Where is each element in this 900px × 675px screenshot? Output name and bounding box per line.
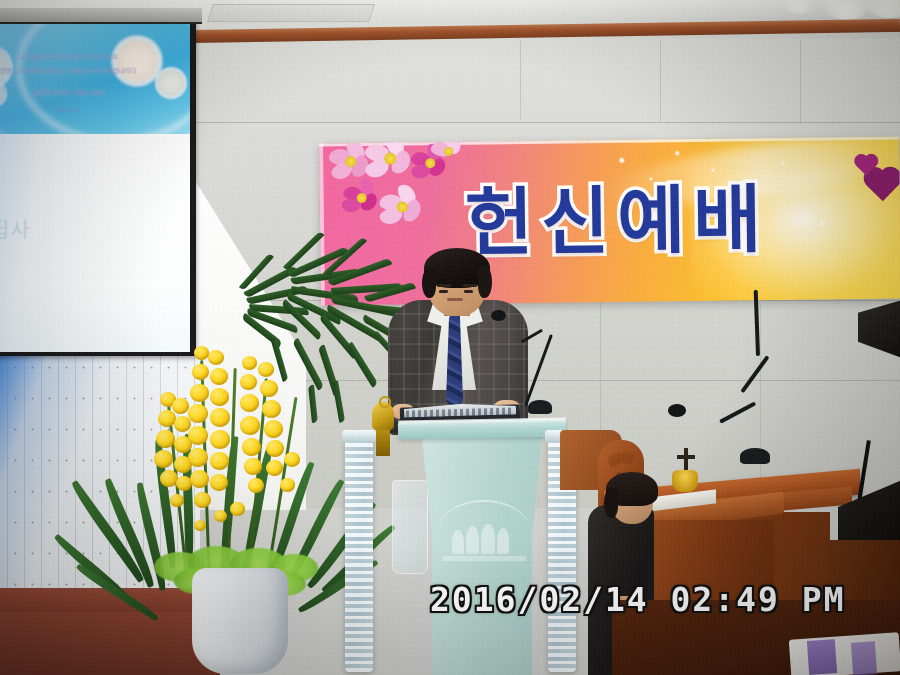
slide-verse-line: 영영 나의 베옷을 벗기고 기쁨으로 띠 띠우셨나이다 [0,66,138,78]
glass-vase [392,480,428,574]
speaker-hair [478,266,492,298]
wall-seam [660,40,661,122]
cymbidium-orchid-arrangement [130,340,355,675]
podium-etching [438,500,530,580]
podium-microphone-head [491,310,506,321]
speaker-mouth [447,298,463,301]
slide-verse-line: 슬픔이 변하여 기쁨이 되네 [0,88,138,100]
slide-title: 집사 [0,214,31,244]
striped-cloth [789,632,900,675]
speaker-eye [439,290,448,293]
speaker-eyebrow [437,284,452,287]
banner-headline: 헌신예배 [464,160,770,271]
screen-roller-housing [0,8,202,24]
podium-microphone-base [528,400,552,414]
speaker-tie [446,316,463,412]
speaker-hair [422,268,436,298]
flower-pot [192,568,288,674]
crystal-pillar-cap [342,430,376,442]
podium-etching-figure [466,526,479,554]
cloth-stripe [807,639,837,675]
speaker-eyebrow [462,284,477,287]
sparkle-icon [781,162,784,165]
seated-attendant-hair [604,488,618,518]
photograph: 나의 슬픔이 변하여 춤이 되게 하시며 영영 나의 베옷을 벗기고 기쁨으로 … [0,0,900,675]
wall-seam [760,304,761,504]
altar-microphone-base [740,448,770,464]
cloth-stripe [851,641,877,675]
sparkle-icon [675,151,679,155]
podium-etching-table [442,556,526,561]
sparkle-icon [820,221,824,225]
podium-etching-figure [497,528,509,554]
slide-body: 집사 [0,134,190,352]
cross-icon [677,455,695,459]
speaker-eye [464,290,473,293]
wall-seam [520,40,521,120]
gerbera-flower-icon [154,66,188,100]
gold-candlestick [672,470,698,492]
camera-timestamp: 2016/02/14 02:49 PM [430,580,846,619]
slide-verse-reference: 시편 30:11 [0,106,138,114]
ceiling-vent [207,4,375,22]
podium-etching-figure [481,524,495,554]
crystal-pillar [345,436,373,672]
wall-seam [182,122,900,123]
slide-header: 나의 슬픔이 변하여 춤이 되게 하시며 영영 나의 베옷을 벗기고 기쁨으로 … [0,22,190,138]
podium-etching-figure [452,530,464,554]
slide-verse-line: 나의 슬픔이 변하여 춤이 되게 하시며 [0,52,138,64]
bell-handle [379,396,391,408]
bell-stand [376,428,390,456]
altar-microphone-head [668,404,686,417]
projection-screen: 나의 슬픔이 변하여 춤이 되게 하시며 영영 나의 베옷을 벗기고 기쁨으로 … [0,22,190,352]
wall-seam [800,40,801,124]
